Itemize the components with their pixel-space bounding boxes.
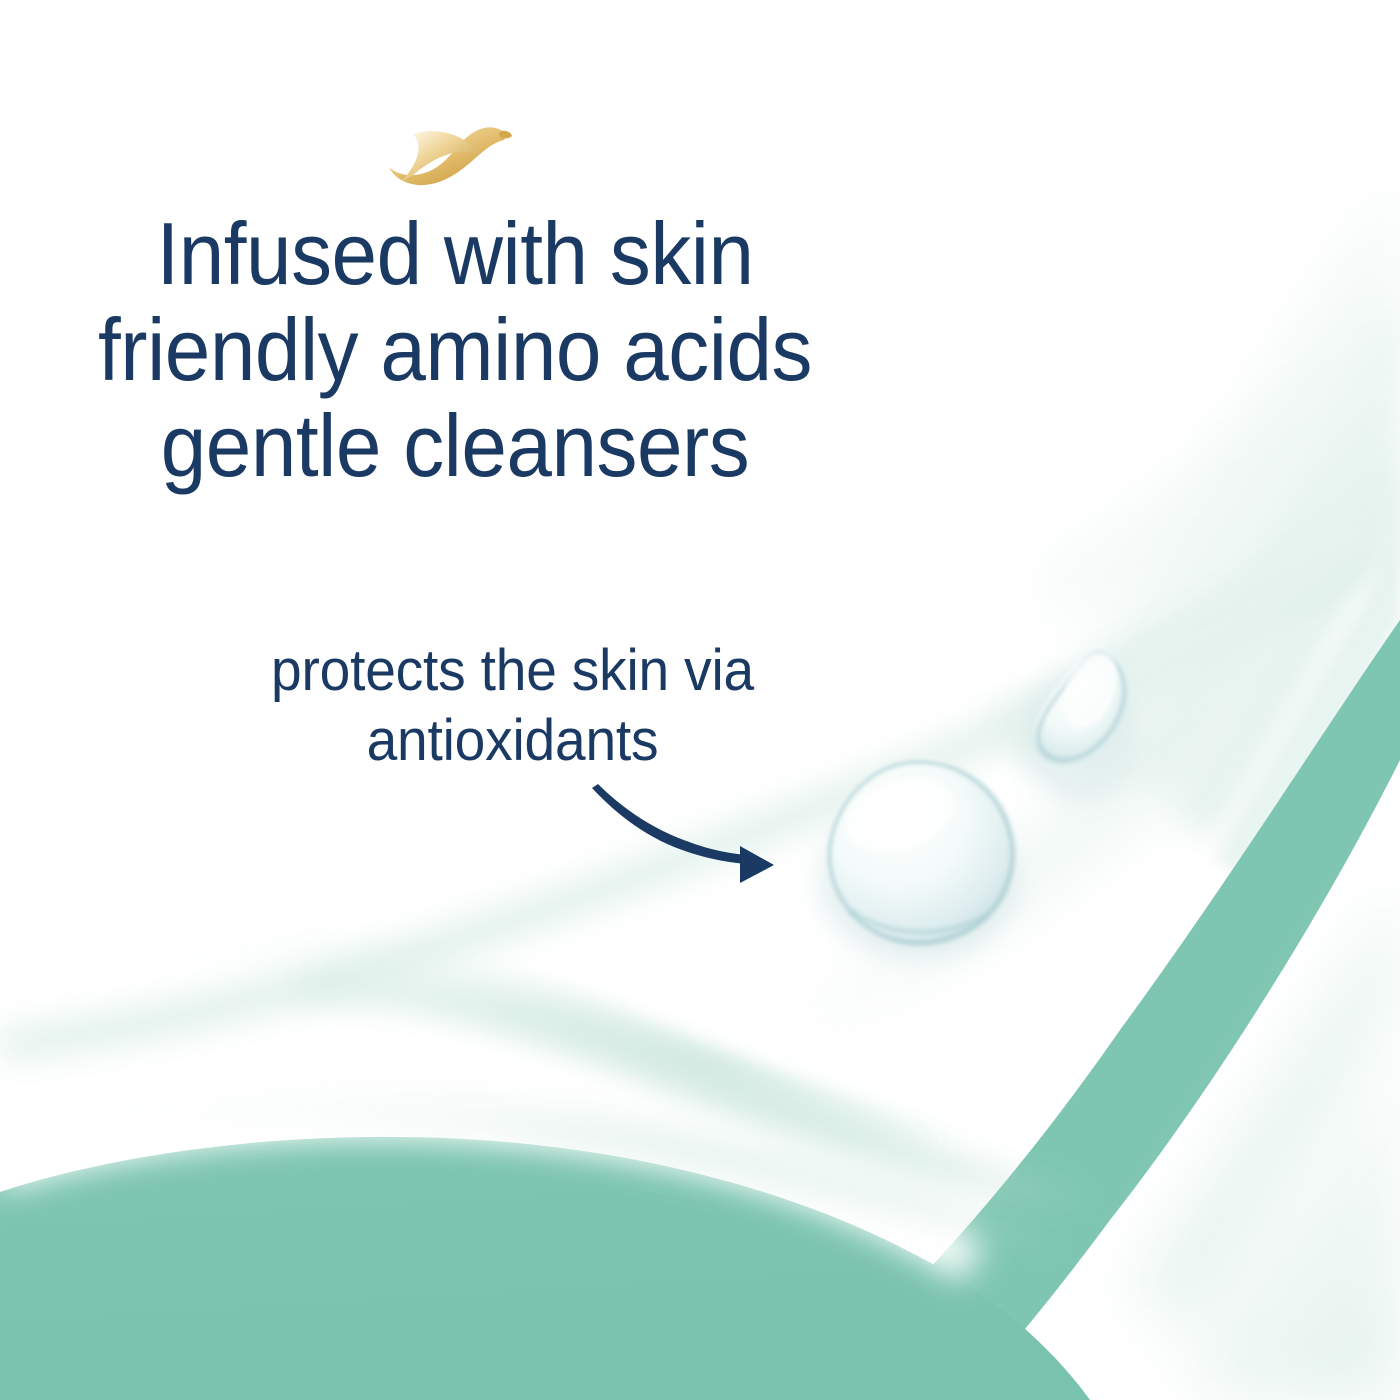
subheadline-line-1: protects the skin via [76, 636, 950, 706]
dove-product-banner: Infused with skin friendly amino acids g… [0, 0, 1400, 1400]
headline: Infused with skin friendly amino acids g… [32, 206, 878, 494]
callout-arrow [588, 782, 800, 892]
dove-logo [383, 112, 513, 190]
subheadline-line-2: antioxidants [76, 706, 950, 776]
subheadline: protects the skin via antioxidants [76, 636, 950, 776]
headline-line-1: Infused with skin [32, 206, 878, 302]
curved-arrow-right-icon [588, 782, 800, 892]
dove-bird-icon [383, 112, 513, 190]
headline-line-2: friendly amino acids [32, 302, 878, 398]
headline-line-3: gentle cleansers [32, 398, 878, 494]
